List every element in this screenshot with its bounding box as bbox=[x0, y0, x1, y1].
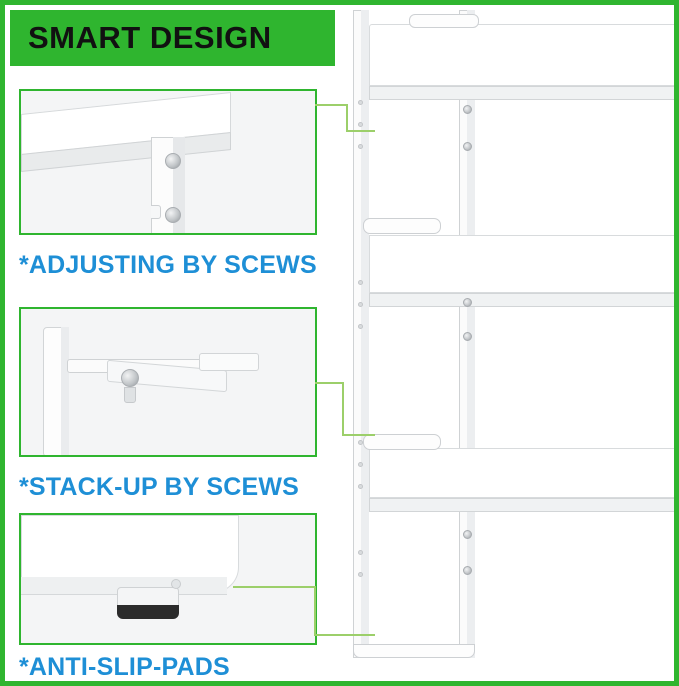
connector-line-3 bbox=[231, 583, 377, 645]
shelf-board-1 bbox=[369, 24, 679, 86]
screw bbox=[463, 105, 472, 114]
post-hole bbox=[358, 550, 363, 555]
screw-icon bbox=[165, 207, 181, 223]
pad-screw-icon bbox=[171, 579, 181, 589]
shelf-edge-1 bbox=[369, 86, 679, 100]
shelf-foot-bar bbox=[353, 644, 475, 658]
post-hole bbox=[358, 280, 363, 285]
header-banner: SMART DESIGN bbox=[10, 10, 335, 66]
screw-icon bbox=[165, 153, 181, 169]
shelf-bracket-1 bbox=[409, 14, 479, 28]
callout-label-adjusting: *ADJUSTING BY SCEWS bbox=[19, 251, 317, 280]
product-infographic: SMART DESIGN bbox=[0, 0, 679, 686]
product-photo bbox=[335, 10, 679, 686]
callout-label-stackup: *STACK-UP BY SCEWS bbox=[19, 473, 299, 502]
screw bbox=[463, 530, 472, 539]
post-hole bbox=[358, 484, 363, 489]
detail-photo-adjusting bbox=[19, 89, 317, 235]
anti-slip-pad bbox=[117, 605, 179, 619]
detail-background-1 bbox=[21, 187, 151, 235]
stack-bracket-2 bbox=[363, 218, 441, 234]
shelf-board-2 bbox=[369, 235, 679, 293]
screw bbox=[463, 566, 472, 575]
screw-icon bbox=[121, 369, 139, 387]
detail-photo-stackup bbox=[19, 307, 317, 457]
connector-line-2 bbox=[313, 379, 377, 465]
post-hole bbox=[358, 572, 363, 577]
connector-line-1 bbox=[313, 101, 377, 149]
shelf-edge-3 bbox=[369, 498, 679, 512]
stack-connector-tip bbox=[199, 353, 259, 371]
shelf-edge-2 bbox=[369, 293, 679, 307]
post-hole bbox=[358, 302, 363, 307]
callout-label-antislip: *ANTI-SLIP-PADS bbox=[19, 653, 230, 682]
shelf-board-3 bbox=[369, 448, 679, 498]
screw bbox=[463, 332, 472, 341]
screw-shaft bbox=[124, 387, 136, 403]
screw bbox=[463, 298, 472, 307]
post-closeup-left-shade bbox=[61, 327, 69, 457]
screw bbox=[463, 142, 472, 151]
page-title: SMART DESIGN bbox=[28, 20, 272, 56]
post-hole bbox=[358, 324, 363, 329]
